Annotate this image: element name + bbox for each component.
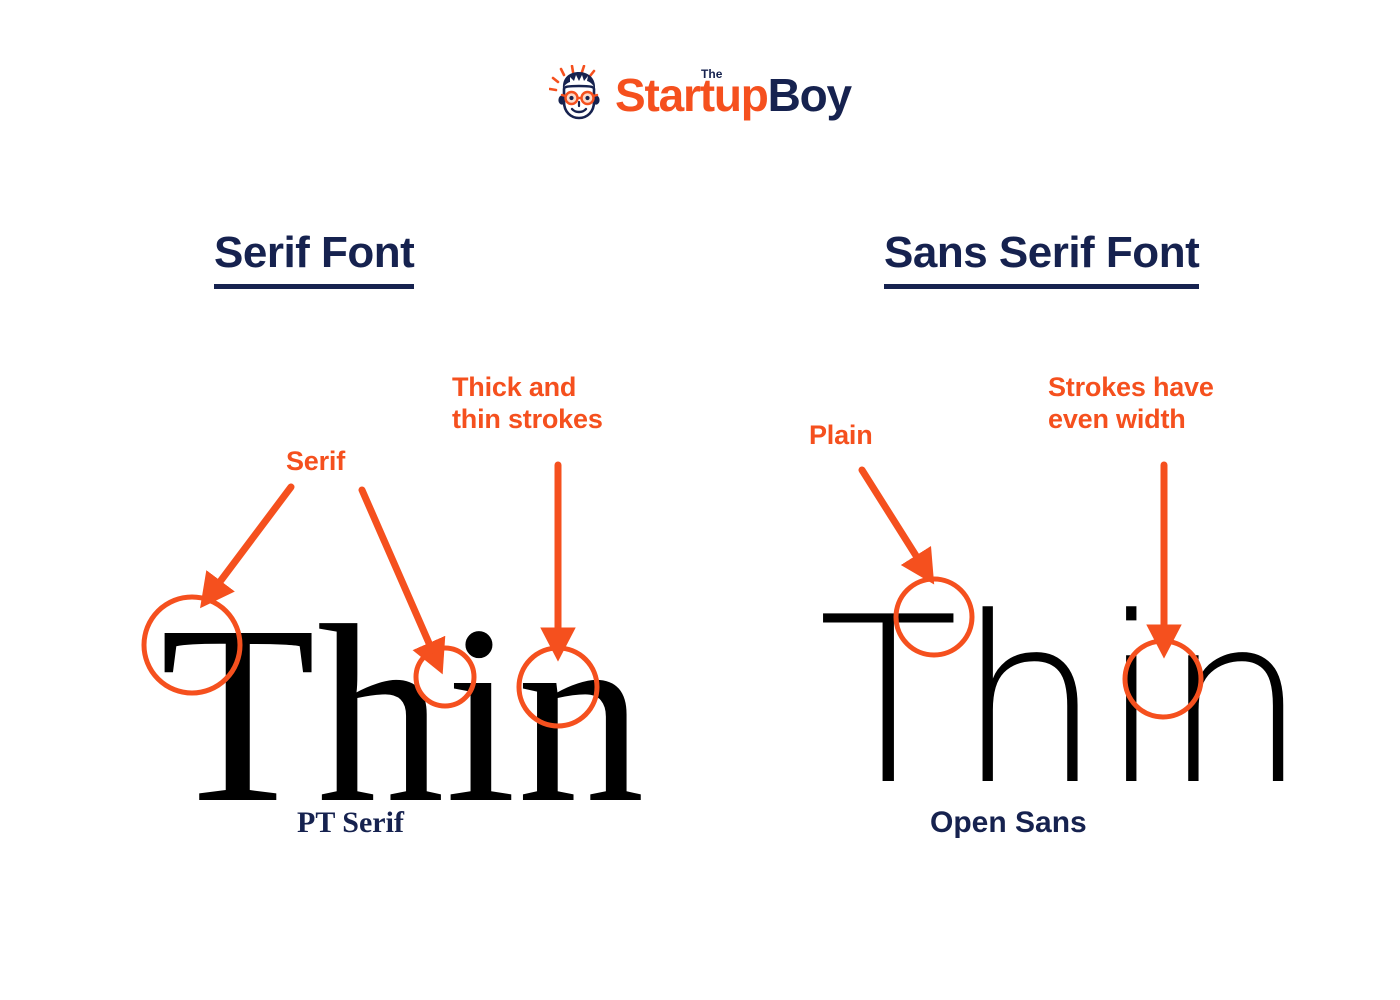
annotation-label-plain: Plain [809,420,873,452]
arrow-plain-to-h-stem [862,470,920,562]
annotation-label-strokes-have-even-width: Strokes have even width [1048,372,1214,436]
heading-serif-font: Serif Font [214,228,414,289]
heading-sans-serif-font: Sans Serif Font [884,228,1199,289]
site-logo[interactable]: StartupBoy The [0,62,1400,128]
startupboy-mascot-icon [549,65,609,125]
sample-word-serif: Thin [160,588,646,843]
logo-wordmark: StartupBoy The [615,72,851,118]
font-name-caption-pt-serif: PT Serif [297,806,404,840]
annotation-label-serif: Serif [286,446,345,478]
sample-word-sans-serif: Thin [818,588,1306,818]
logo-text-startup: Startup [615,72,768,118]
annotation-label-thick-and-thin-strokes: Thick and thin strokes [452,372,603,436]
font-name-caption-open-sans: Open Sans [930,806,1087,840]
logo-text-boy: Boy [768,72,851,118]
arrow-serif-to-t-left-serif [216,487,291,587]
logo-text-the: The [701,68,722,80]
